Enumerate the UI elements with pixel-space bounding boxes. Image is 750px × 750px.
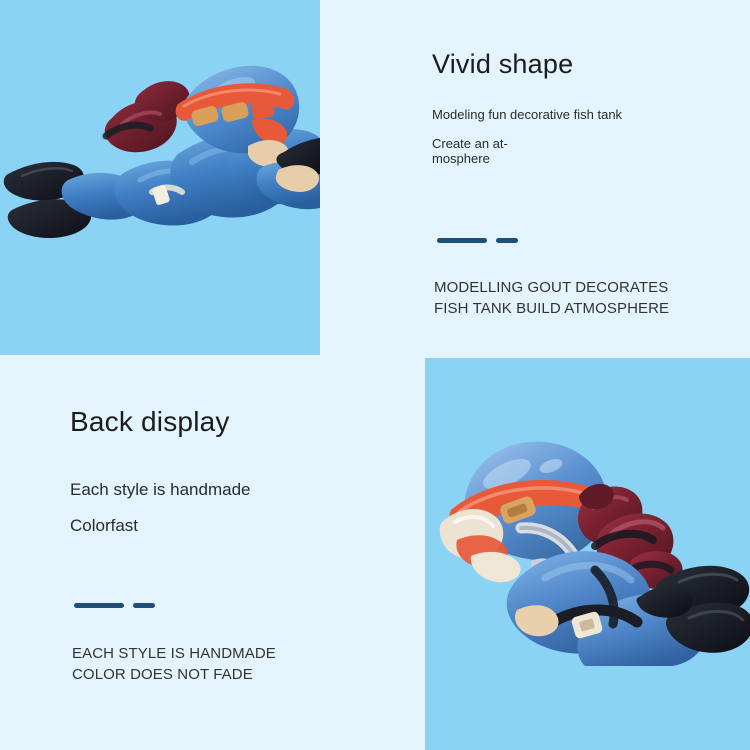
dash-short-icon (133, 603, 155, 608)
subtitle-line: Modeling fun decorative fish tank (432, 107, 692, 122)
dash-long-icon (74, 603, 124, 608)
scuba-diver-figurine-back-icon (435, 436, 750, 666)
scuba-diver-figurine-front-icon (2, 62, 320, 262)
page-title-back-display: Back display (70, 405, 400, 439)
product-feature-page: Vivid shape Modeling fun decorative fish… (0, 0, 750, 750)
divider-vivid-shape (437, 238, 518, 243)
feature-text-vivid-shape: Vivid shape Modeling fun decorative fish… (432, 48, 732, 180)
product-photo-front (0, 0, 320, 355)
caption-vivid-shape: MODELLING GOUT DECORATES FISH TANK BUILD… (434, 277, 734, 319)
subtitle-list-back-display: Each style is handmade Colorfast (70, 479, 400, 536)
subtitle-list-vivid-shape: Modeling fun decorative fish tank Create… (432, 107, 732, 166)
dash-long-icon (437, 238, 487, 243)
subtitle-line: Create an at- mosphere (432, 136, 572, 166)
caption-back-display: EACH STYLE IS HANDMADE COLOR DOES NOT FA… (72, 643, 402, 685)
subtitle-line: Each style is handmade (70, 479, 400, 500)
feature-text-back-display: Back display Each style is handmade Colo… (70, 405, 400, 551)
dash-short-icon (496, 238, 518, 243)
product-photo-back (425, 358, 750, 750)
page-title-vivid-shape: Vivid shape (432, 48, 732, 80)
subtitle-line: Colorfast (70, 515, 400, 536)
divider-back-display (74, 603, 155, 608)
